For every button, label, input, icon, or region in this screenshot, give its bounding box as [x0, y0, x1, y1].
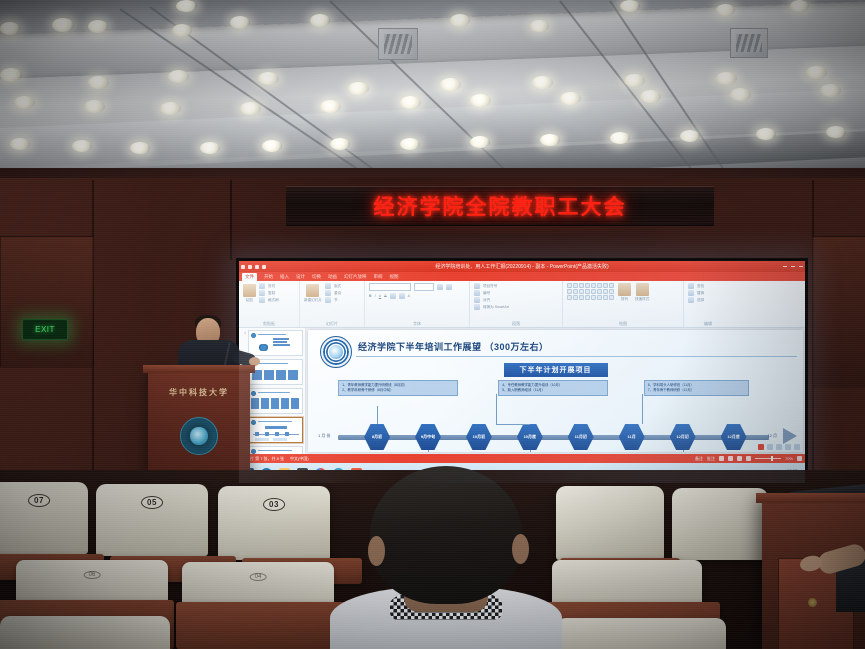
- seat-nearest-row: [556, 618, 726, 649]
- callout-leader: [683, 450, 684, 452]
- thumb-line: [258, 450, 292, 451]
- timeline-node-label: 12月初: [676, 434, 688, 440]
- timeline-node-label: 9月中旬: [421, 434, 435, 440]
- thumbnail-preview[interactable]: [248, 388, 303, 414]
- shape-item[interactable]: [603, 283, 608, 288]
- find-icon[interactable]: [688, 283, 694, 289]
- thumb-logo: [251, 333, 256, 338]
- timeline-callout-above: 1、青年教师教学能力提升研修班（8月初） 2、教学科研骨干研修（8月中旬）: [338, 380, 458, 396]
- new-slide-label: 新建幻灯片: [304, 298, 322, 303]
- timeline-node: 12月初: [670, 424, 696, 450]
- timeline-node: 8月初: [364, 424, 390, 450]
- ceiling-light: [440, 78, 461, 91]
- quick-styles-button[interactable]: 快速样式: [635, 283, 649, 302]
- ceiling-light: [730, 88, 751, 101]
- tab-file[interactable]: 文件: [242, 273, 257, 281]
- slide-hust-logo-icon: [320, 336, 352, 368]
- slide-sorter-icon[interactable]: [728, 456, 733, 461]
- eraser-icon[interactable]: [776, 444, 782, 450]
- timeline-node: 11月初: [568, 424, 594, 450]
- timeline-callout-above: 6、学科带头人研修班（11月） 7、青年骨干教师研修（12月）: [644, 380, 749, 396]
- editing-group-label: 编辑: [688, 321, 728, 327]
- close-icon[interactable]: [799, 266, 803, 267]
- shape-item[interactable]: [579, 283, 584, 288]
- ribbon-tab-strip[interactable]: 文件 开始 插入 设计 切换 动画 幻灯片放映 审阅 视图: [239, 272, 805, 281]
- ceiling-light: [624, 74, 645, 87]
- thumb-chip: [288, 370, 298, 380]
- callout-line: 7、青年骨干教师研修（12月）: [648, 388, 745, 393]
- podium-top-surface: [143, 365, 255, 373]
- ceiling-light: [14, 96, 35, 109]
- font-size-box[interactable]: [414, 283, 434, 291]
- shape-item[interactable]: [603, 289, 608, 294]
- timeline-bar: [338, 435, 769, 440]
- timeline-node-label: 12月底: [727, 434, 739, 440]
- seat-front: [556, 486, 664, 560]
- ribbon[interactable]: 粘贴 剪切 复制 格式刷 剪贴板: [239, 281, 805, 328]
- timeline-node: 9月中旬: [415, 424, 441, 450]
- thumbnail-item[interactable]: 6: [241, 388, 303, 414]
- hvac-vent: [730, 28, 768, 58]
- ceiling-light: [230, 16, 250, 29]
- pen-icon[interactable]: [767, 444, 773, 450]
- timeline-node: 10月底: [517, 424, 543, 450]
- hvac-vent: [378, 28, 418, 60]
- bold-button[interactable]: B: [369, 294, 372, 298]
- ceiling-light: [560, 92, 581, 105]
- shape-item[interactable]: [597, 295, 602, 300]
- callout-line: 5、新入职教师培训（11月）: [502, 388, 604, 393]
- timeline-arrow-icon: [783, 428, 797, 444]
- ceiling-light: [320, 100, 341, 113]
- thumbnail-preview[interactable]: [248, 446, 303, 454]
- tab-insert[interactable]: 插入: [280, 274, 289, 280]
- seat-second-row: [552, 560, 702, 604]
- change-case-icon[interactable]: [399, 293, 405, 299]
- shape-item[interactable]: [603, 295, 608, 300]
- copy-label: 复制: [268, 291, 275, 296]
- timeline-node: 12月底: [721, 424, 747, 450]
- ribbon-group-slides[interactable]: 新建幻灯片 版式 重设 节 幻灯片: [300, 281, 365, 327]
- zoom-level[interactable]: 70%: [785, 456, 793, 461]
- slide-canvas-area[interactable]: 经济学院下半年培训工作展望 （300万左右） 下半年计划开展项目 1 月 份 1…: [306, 328, 805, 454]
- wall-panel-right: [812, 236, 865, 388]
- led-banner: 经济学院全院教职工大会: [286, 186, 714, 226]
- normal-view-icon[interactable]: [719, 456, 724, 461]
- shape-item[interactable]: [585, 289, 590, 294]
- thumb-logo: [251, 391, 256, 396]
- ceiling-light: [532, 76, 553, 89]
- thumb-chip: [264, 370, 274, 380]
- ceiling-light: [400, 138, 420, 150]
- thumbnail-item[interactable]: 4: [241, 330, 303, 356]
- ceiling: [0, 0, 865, 176]
- shape-item[interactable]: [591, 283, 596, 288]
- ceiling-light: [72, 140, 92, 152]
- reading-view-icon[interactable]: [737, 456, 742, 461]
- seat-number: 06: [84, 571, 101, 579]
- replace-label: 替换: [697, 291, 704, 296]
- lecture-hall-photo: 经济学院全院教职工大会 EXIT 经济学院培训处、用人工作汇报(20220914…: [0, 0, 865, 649]
- shape-item[interactable]: [609, 283, 614, 288]
- callout-leader: [496, 424, 530, 425]
- tab-design[interactable]: 设计: [296, 274, 305, 280]
- zoom-slider-handle[interactable]: [771, 456, 773, 461]
- arrange-button[interactable]: 排列: [618, 283, 631, 302]
- ime-icon[interactable]: [758, 444, 764, 450]
- powerpoint-window: 经济学院培训处、用人工作汇报(20220914) - 副本 - PowerPoi…: [239, 261, 805, 483]
- callout-leader: [428, 450, 429, 452]
- ceiling-light: [168, 70, 189, 83]
- paste-button[interactable]: 粘贴: [243, 284, 256, 303]
- numbering-icon[interactable]: [474, 290, 480, 296]
- tab-review[interactable]: 审阅: [374, 274, 383, 280]
- tab-slideshow[interactable]: 幻灯片放映: [344, 274, 367, 280]
- seat-number: 05: [141, 496, 163, 509]
- cut-label: 剪切: [268, 284, 275, 289]
- ceiling-light: [52, 18, 74, 32]
- section-icon[interactable]: [325, 297, 331, 303]
- quick-styles-icon: [636, 283, 649, 296]
- ceiling-light: [806, 66, 827, 79]
- led-banner-text: 经济学院全院教职工大会: [374, 191, 627, 221]
- arrange-label: 排列: [621, 297, 628, 302]
- select-label: 选择: [697, 298, 704, 303]
- shape-item[interactable]: [591, 289, 596, 294]
- clipboard-group-label: 剪贴板: [243, 321, 295, 327]
- thumb-node: [255, 432, 259, 436]
- shape-item[interactable]: [585, 295, 590, 300]
- timeline-end-label: 12 月: [767, 433, 777, 439]
- projection-screen: 经济学院培训处、用人工作汇报(20220914) - 副本 - PowerPoi…: [236, 258, 808, 486]
- ribbon-group-drawing[interactable]: 排列 快速样式 绘图: [563, 281, 684, 327]
- bullets-label: 项目符号: [483, 284, 497, 289]
- maximize-icon[interactable]: [791, 266, 795, 267]
- ceiling-light: [820, 84, 841, 97]
- status-bar[interactable]: 幻灯片 第 7 张，共 8 张 中文(中国) 备注 批注 70%: [239, 454, 805, 463]
- save-icon[interactable]: [241, 265, 245, 269]
- bullets-icon[interactable]: [474, 283, 480, 289]
- settings-icon[interactable]: [794, 444, 800, 450]
- thumb-node: [265, 432, 269, 436]
- find-label: 查找: [697, 284, 704, 289]
- fit-slide-icon[interactable]: [797, 456, 802, 461]
- thumb-chip: [273, 341, 287, 343]
- thumb-line: [258, 392, 290, 393]
- thumb-line: [258, 421, 292, 422]
- seat-front: 03: [218, 486, 330, 560]
- thumb-line: [258, 334, 286, 335]
- ceiling-light: [640, 90, 661, 103]
- ceiling-light: [84, 100, 105, 113]
- quick-styles-label: 快速样式: [635, 297, 649, 302]
- wall-panel-left: [0, 236, 94, 368]
- format-painter-icon[interactable]: [259, 297, 265, 303]
- timeline-start-label: 1 月 份: [318, 433, 330, 439]
- ceiling-light: [826, 126, 846, 138]
- callout-leader: [530, 450, 531, 452]
- layout-icon[interactable]: [325, 283, 331, 289]
- window-controls[interactable]: [783, 261, 803, 272]
- paragraph-group-label: 段落: [474, 321, 558, 327]
- shape-item[interactable]: [585, 283, 590, 288]
- font-group-label: 字体: [369, 321, 465, 327]
- callout-leader: [377, 406, 378, 424]
- thumb-graphic: [259, 344, 268, 351]
- ceiling-light: [160, 102, 181, 115]
- window-title-text: 经济学院培训处、用人工作汇报(20220914) - 副本 - PowerPoi…: [435, 263, 608, 270]
- ceiling-light: [756, 128, 776, 140]
- shape-item[interactable]: [573, 283, 578, 288]
- numbering-label: 编号: [483, 291, 490, 296]
- redo-icon[interactable]: [255, 265, 259, 269]
- thumb-logo: [251, 449, 256, 454]
- shape-item[interactable]: [579, 289, 584, 294]
- thumb-banner: [265, 426, 287, 429]
- thumb-chip: [273, 338, 289, 340]
- window-title-bar: 经济学院培训处、用人工作汇报(20220914) - 副本 - PowerPoi…: [239, 261, 805, 272]
- ceiling-light: [610, 132, 630, 144]
- console-top-surface: [756, 493, 865, 503]
- shape-item[interactable]: [591, 295, 596, 300]
- shape-item[interactable]: [567, 289, 572, 294]
- slide-title-rule: [356, 356, 797, 357]
- font-name-box[interactable]: [369, 283, 411, 291]
- align-label: 对齐: [483, 298, 490, 303]
- thumb-logo: [251, 420, 256, 425]
- slide-title: 经济学院下半年培训工作展望 （300万左右）: [358, 340, 795, 353]
- ceiling-light: [172, 24, 192, 37]
- shape-item[interactable]: [597, 289, 602, 294]
- shrink-font-icon[interactable]: [446, 284, 452, 290]
- underline-button[interactable]: U: [379, 294, 382, 298]
- timeline-graphic: 1 月 份 12 月 8月初 9月中旬 10月初 10月底 11月初 1: [314, 380, 799, 448]
- timeline-node-label: 8月初: [372, 434, 382, 440]
- seat-second-row: 06: [16, 560, 168, 604]
- align-icon[interactable]: [474, 297, 480, 303]
- section-label: 节: [334, 298, 338, 303]
- ceiling-light: [680, 130, 700, 142]
- seat-front: 07: [0, 482, 88, 554]
- current-slide[interactable]: 经济学院下半年培训工作展望 （300万左右） 下半年计划开展项目 1 月 份 1…: [308, 330, 803, 452]
- undo-icon[interactable]: [248, 265, 252, 269]
- shape-item[interactable]: [609, 289, 614, 294]
- thumb-chip: [291, 398, 299, 409]
- seat-number: 07: [28, 494, 50, 507]
- thumb-chip: [271, 398, 279, 409]
- ceiling-light: [200, 142, 220, 154]
- tab-view[interactable]: 视图: [390, 274, 399, 280]
- ceiling-light: [470, 136, 490, 148]
- font-color-button[interactable]: A: [408, 294, 410, 298]
- thumb-callout: [255, 438, 269, 441]
- ribbon-group-editing[interactable]: 查找 替换 选择 编辑: [684, 281, 732, 327]
- seat-number: 04: [250, 573, 267, 581]
- timeline-node-label: 11月初: [575, 434, 587, 440]
- slide-floating-toolbar[interactable]: [758, 444, 800, 450]
- timeline-node-label: 11月: [628, 434, 636, 440]
- thumbnail-preview[interactable]: [248, 330, 303, 356]
- emergency-exit-sign: EXIT: [22, 319, 68, 340]
- tab-home[interactable]: 开始: [264, 274, 273, 280]
- reset-icon[interactable]: [325, 290, 331, 296]
- new-slide-icon: [306, 284, 319, 297]
- timeline-callout-above: 4、专任教师教学能力提升培训（10月） 5、新入职教师培训（11月）: [498, 380, 608, 396]
- callout-leader: [642, 394, 643, 424]
- ceiling-light: [716, 4, 735, 16]
- language-indicator[interactable]: 中文(中国): [290, 456, 309, 462]
- seat-front: [672, 488, 768, 560]
- drawing-group-label: 绘图: [567, 321, 679, 327]
- attendee-head: [370, 466, 522, 604]
- shape-item[interactable]: [573, 295, 578, 300]
- zoom-slider[interactable]: [755, 458, 781, 459]
- shape-item[interactable]: [579, 295, 584, 300]
- thumbnail-preview[interactable]: [248, 417, 303, 443]
- ceiling-light: [530, 20, 549, 32]
- ceiling-light: [240, 102, 261, 115]
- thumb-callout: [273, 438, 287, 441]
- ceiling-light: [176, 0, 197, 12]
- slides-group-label: 幻灯片: [304, 321, 360, 327]
- podium-emblem-icon: [180, 417, 218, 455]
- quick-access-toolbar[interactable]: [241, 261, 266, 272]
- ceiling-light: [330, 138, 350, 150]
- cut-icon[interactable]: [259, 283, 265, 289]
- minimize-icon[interactable]: [783, 266, 787, 267]
- new-slide-button[interactable]: 新建幻灯片: [304, 284, 322, 303]
- timeline-node: 10月初: [466, 424, 492, 450]
- ceiling-light: [10, 138, 30, 150]
- ceiling-light: [130, 142, 150, 154]
- ribbon-group-paragraph[interactable]: 项目符号 编号 对齐 转换为 SmartArt 段落: [470, 281, 563, 327]
- wall-seam: [230, 180, 232, 260]
- console-emblem-icon: [808, 598, 817, 607]
- timeline-node-label: 10月底: [524, 434, 536, 440]
- comments-button[interactable]: 批注: [707, 456, 715, 462]
- screen-surface: 经济学院培训处、用人工作汇报(20220914) - 副本 - PowerPoi…: [239, 261, 805, 483]
- thumb-node: [285, 432, 289, 436]
- copy-icon[interactable]: [259, 290, 265, 296]
- podium-university-name: 华中科技大学: [148, 387, 250, 398]
- ceiling-light: [400, 96, 421, 109]
- layout-label: 版式: [334, 284, 341, 289]
- ceiling-light: [258, 72, 279, 85]
- ceiling-light: [262, 140, 282, 152]
- exit-sign-label: EXIT: [35, 325, 55, 334]
- char-spacing-icon[interactable]: [390, 293, 396, 299]
- arrange-icon: [618, 283, 631, 296]
- reset-label: 重设: [334, 291, 341, 296]
- seat-second-row: 04: [182, 562, 334, 606]
- ceiling-light: [540, 134, 560, 146]
- thumb-chip: [261, 398, 269, 409]
- status-bar-right[interactable]: 备注 批注 70%: [695, 456, 802, 462]
- shape-item[interactable]: [609, 295, 614, 300]
- attendee-ear-left: [368, 536, 385, 566]
- ceiling-light: [88, 20, 108, 33]
- thumbnail-item-selected[interactable]: 7: [241, 417, 303, 443]
- ceiling-light: [88, 76, 109, 89]
- seat-number: 03: [263, 498, 285, 511]
- ribbon-group-clipboard[interactable]: 粘贴 剪切 复制 格式刷 剪贴板: [239, 281, 300, 327]
- slideshow-icon[interactable]: [262, 265, 266, 269]
- strikethrough-button[interactable]: S: [384, 294, 386, 298]
- format-painter-label: 格式刷: [268, 298, 279, 303]
- callout-leader: [496, 394, 497, 424]
- smartart-icon[interactable]: [474, 304, 480, 310]
- paste-label: 粘贴: [246, 298, 253, 303]
- shape-item[interactable]: [597, 283, 602, 288]
- attendee-ear-right: [512, 534, 529, 564]
- callout-line: 2、教学科研骨干研修（8月中旬）: [342, 388, 454, 393]
- seat-nearest-row: [0, 616, 170, 649]
- timeline-node-label: 10月初: [473, 434, 485, 440]
- thumb-chip: [273, 344, 290, 346]
- ceiling-light: [716, 72, 737, 85]
- shape-item[interactable]: [567, 295, 572, 300]
- slide-sub-banner: 下半年计划开展项目: [504, 363, 608, 377]
- ceiling-light: [470, 94, 491, 107]
- replace-icon[interactable]: [688, 290, 694, 296]
- grow-font-icon[interactable]: [437, 284, 443, 290]
- ceiling-light: [620, 0, 640, 12]
- laser-icon[interactable]: [785, 444, 791, 450]
- timeline-node: 11月: [619, 424, 645, 450]
- thumb-node: [275, 432, 279, 436]
- notes-button[interactable]: 备注: [695, 456, 703, 462]
- tab-transitions[interactable]: 切换: [312, 274, 321, 280]
- italic-button[interactable]: I: [375, 294, 376, 298]
- ribbon-group-font[interactable]: B I U S A 字体: [365, 281, 470, 327]
- seat-front: 05: [96, 484, 208, 556]
- shape-gallery[interactable]: [567, 283, 614, 300]
- smartart-label: 转换为 SmartArt: [483, 305, 509, 310]
- shape-item[interactable]: [573, 289, 578, 294]
- shape-item[interactable]: [567, 283, 572, 288]
- editor-body: 4 5: [239, 328, 805, 454]
- thumb-chip: [281, 398, 289, 409]
- ceiling-light: [0, 22, 20, 35]
- select-icon[interactable]: [688, 297, 694, 303]
- thumb-line: [258, 363, 288, 364]
- ceiling-light: [450, 14, 470, 27]
- slideshow-view-icon[interactable]: [746, 456, 751, 461]
- ceiling-light: [790, 0, 809, 12]
- ceiling-light: [0, 68, 22, 82]
- seat-desk-near: [176, 602, 352, 649]
- thumbnail-item[interactable]: 8: [241, 446, 303, 454]
- thumb-chip: [276, 370, 286, 380]
- ceiling-light: [310, 14, 330, 27]
- paste-icon: [243, 284, 256, 297]
- thumb-chip: [251, 398, 259, 409]
- ceiling-light: [348, 82, 369, 95]
- tab-animations[interactable]: 动画: [328, 274, 337, 280]
